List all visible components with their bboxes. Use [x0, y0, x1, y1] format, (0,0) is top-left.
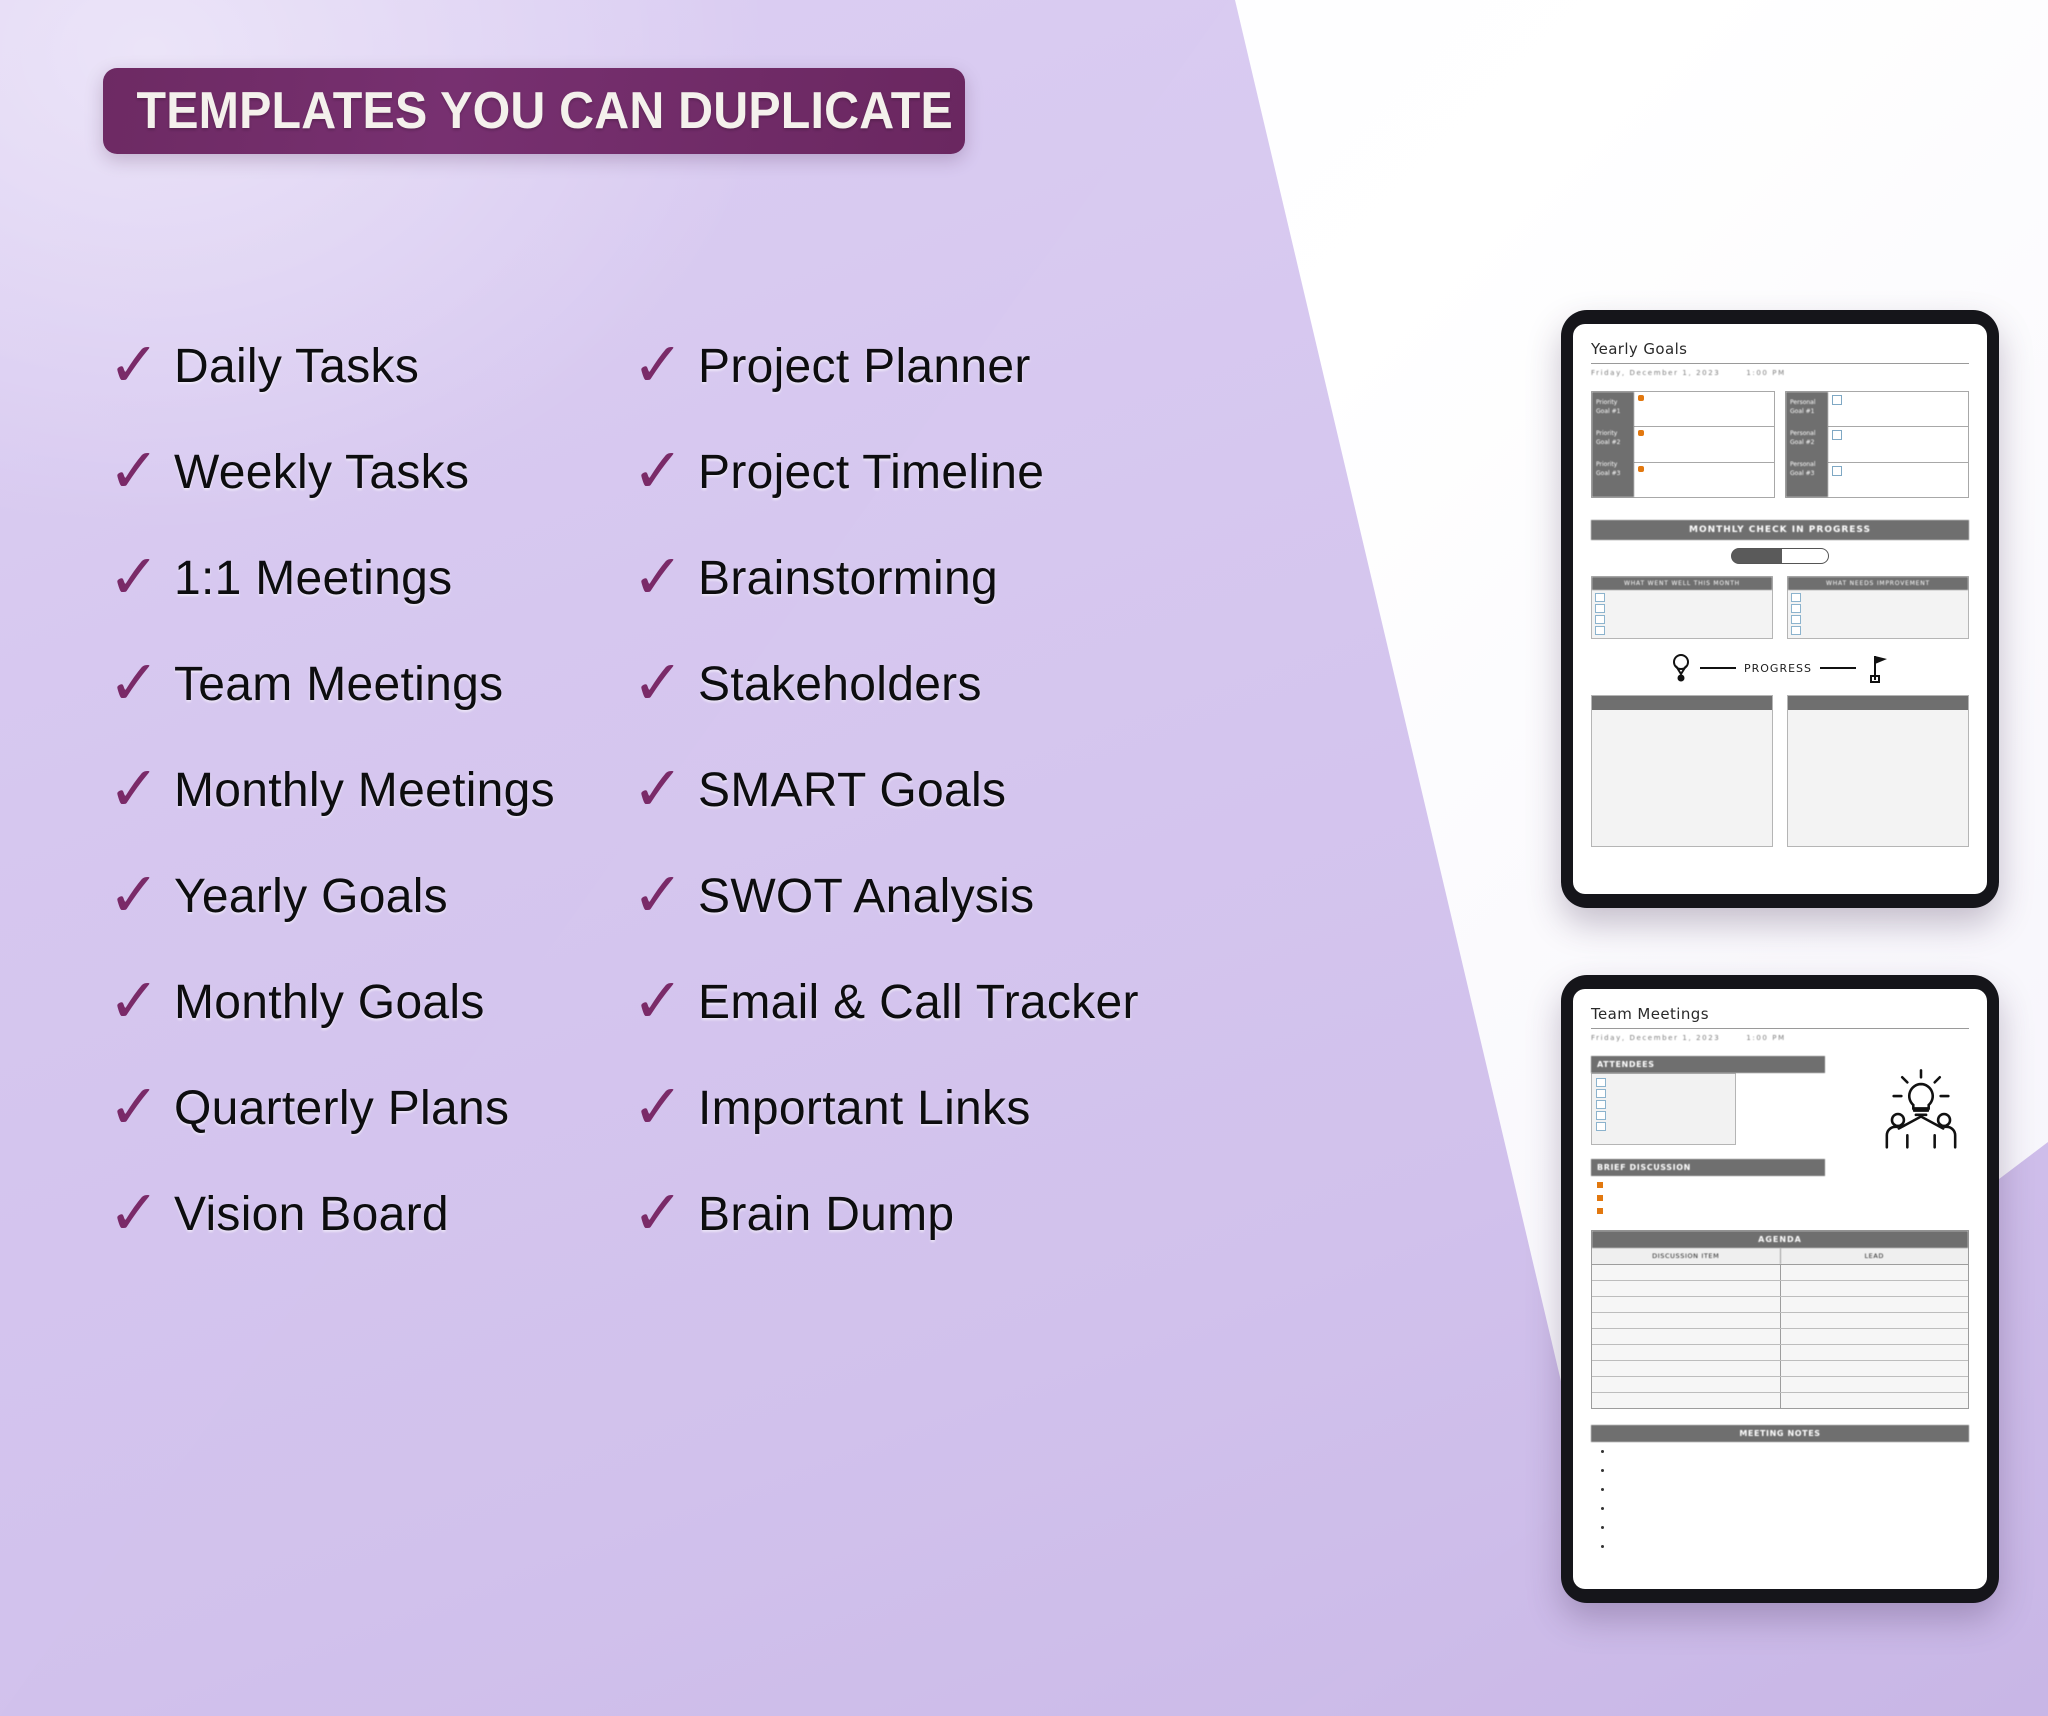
checklist-item: ✓1:1 Meetings — [108, 542, 628, 648]
checklist-column-left: ✓Daily Tasks✓Weekly Tasks✓1:1 Meetings✓T… — [108, 330, 628, 1284]
page-title: TEMPLATES YOU CAN DUPLICATE — [103, 81, 953, 141]
checklist-item-label: Project Timeline — [698, 449, 1044, 497]
checklist-item: ✓Monthly Goals — [108, 966, 628, 1072]
doc-subtitle: Friday, December 1, 2023 1:00 PM — [1591, 1034, 1969, 1042]
agenda-cell-item[interactable] — [1592, 1345, 1781, 1360]
checklist-item-label: Monthly Meetings — [174, 767, 555, 815]
agenda-cell-item[interactable] — [1592, 1297, 1781, 1312]
attendees-box[interactable] — [1591, 1073, 1736, 1145]
checkbox-icon[interactable] — [1832, 466, 1842, 476]
checklist-item: ✓Project Timeline — [632, 436, 1192, 542]
priority-goal-cells — [1634, 392, 1774, 497]
checkbox-stack-icon — [1595, 593, 1605, 635]
personal-goal-label: Personal Goal #2 — [1790, 429, 1824, 447]
improvement-header: WHAT NEEDS IMPROVEMENT — [1788, 577, 1968, 590]
agenda-row[interactable] — [1592, 1361, 1968, 1377]
meeting-notes-header: MEETING NOTES — [1591, 1425, 1969, 1442]
progress-indicator: PROGRESS — [1591, 653, 1969, 683]
checklist-item-label: SMART Goals — [698, 767, 1006, 815]
checklist-item: ✓Project Planner — [632, 330, 1192, 436]
checklist-item: ✓Team Meetings — [108, 648, 628, 754]
notes-bullet-icon — [1601, 1450, 1604, 1453]
personal-goal-label: Personal Goal #1 — [1790, 398, 1824, 416]
agenda-row[interactable] — [1592, 1377, 1968, 1393]
checklist-column-right: ✓Project Planner✓Project Timeline✓Brains… — [632, 330, 1192, 1284]
progress-toggle[interactable] — [1731, 548, 1829, 564]
checklist-item: ✓Quarterly Plans — [108, 1072, 628, 1178]
agenda-cell-lead[interactable] — [1781, 1297, 1969, 1312]
checklist-item-label: Project Planner — [698, 343, 1031, 391]
agenda-row[interactable] — [1592, 1329, 1968, 1345]
check-mark-icon: ✓ — [632, 1182, 698, 1244]
went-well-body[interactable] — [1592, 590, 1772, 638]
check-mark-icon: ✓ — [108, 652, 174, 714]
notes-bullet-icon — [1601, 1526, 1604, 1529]
checklist-item: ✓Brain Dump — [632, 1178, 1192, 1284]
checklist-item: ✓Yearly Goals — [108, 860, 628, 966]
went-well-header: WHAT WENT WELL THIS MONTH — [1592, 577, 1772, 590]
agenda-cell-lead[interactable] — [1781, 1393, 1969, 1408]
check-mark-icon: ✓ — [108, 1182, 174, 1244]
agenda-row[interactable] — [1592, 1297, 1968, 1313]
notes-bullet-icon — [1601, 1507, 1604, 1510]
agenda-column-headers: DISCUSSION ITEM LEAD — [1592, 1248, 1968, 1265]
tablet-screen-team-meetings: Team Meetings Friday, December 1, 2023 1… — [1573, 989, 1987, 1589]
checkbox-icon[interactable] — [1832, 430, 1842, 440]
agenda-cell-item[interactable] — [1592, 1361, 1781, 1376]
checklist-item-label: Important Links — [698, 1085, 1031, 1133]
tablet-mockup-team-meetings: Team Meetings Friday, December 1, 2023 1… — [1561, 975, 1999, 1603]
doc-title: Yearly Goals — [1591, 340, 1969, 358]
goal-cell[interactable] — [1828, 392, 1968, 427]
check-mark-icon: ✓ — [108, 334, 174, 396]
agenda-cell-lead[interactable] — [1781, 1329, 1969, 1344]
next-steps-panels — [1591, 695, 1969, 847]
checklist-item-label: 1:1 Meetings — [174, 555, 452, 603]
priority-goal-label: Priority Goal #2 — [1596, 429, 1630, 447]
checklist-item: ✓Vision Board — [108, 1178, 628, 1284]
doc-subtitle-time: 1:00 PM — [1746, 1034, 1785, 1042]
goal-cell[interactable] — [1634, 392, 1774, 427]
checklist-item-label: Daily Tasks — [174, 343, 419, 391]
notes-bullet-icon — [1601, 1488, 1604, 1491]
went-well-panel: WHAT WENT WELL THIS MONTH — [1591, 576, 1773, 639]
checklist-item-label: Monthly Goals — [174, 979, 485, 1027]
checklist-item-label: Team Meetings — [174, 661, 503, 709]
agenda-cell-lead[interactable] — [1781, 1265, 1969, 1280]
checklist-item: ✓SMART Goals — [632, 754, 1192, 860]
additional-notes-header — [1788, 696, 1968, 710]
agenda-cell-lead[interactable] — [1781, 1313, 1969, 1328]
priority-goals-panel: Priority Goal #1 Priority Goal #2 Priori… — [1591, 391, 1775, 498]
check-mark-icon: ✓ — [108, 758, 174, 820]
checklist-item: ✓Important Links — [632, 1072, 1192, 1178]
improvement-panel: WHAT NEEDS IMPROVEMENT — [1787, 576, 1969, 639]
agenda-cell-item[interactable] — [1592, 1393, 1781, 1408]
checklist-item-label: Vision Board — [174, 1191, 449, 1239]
check-mark-icon: ✓ — [108, 440, 174, 502]
goal-cell[interactable] — [1828, 463, 1968, 497]
next-steps-header — [1592, 696, 1772, 710]
agenda-cell-item[interactable] — [1592, 1329, 1781, 1344]
agenda-column-header: LEAD — [1781, 1248, 1969, 1264]
checklist-item: ✓SWOT Analysis — [632, 860, 1192, 966]
agenda-title: AGENDA — [1592, 1231, 1968, 1248]
doc-subtitle-time: 1:00 PM — [1746, 369, 1785, 377]
checklist-item: ✓Daily Tasks — [108, 330, 628, 436]
agenda-cell-item[interactable] — [1592, 1313, 1781, 1328]
check-mark-icon: ✓ — [108, 1076, 174, 1138]
attendees-header: ATTENDEES — [1591, 1056, 1825, 1073]
reflection-panels: WHAT WENT WELL THIS MONTH WHAT NEEDS IMP… — [1591, 576, 1969, 639]
goal-cell[interactable] — [1634, 427, 1774, 462]
bullet-dot-icon — [1638, 466, 1644, 472]
bullet-dot-icon — [1638, 430, 1644, 436]
check-mark-icon: ✓ — [632, 970, 698, 1032]
header-banner: TEMPLATES YOU CAN DUPLICATE — [103, 68, 965, 154]
agenda-row[interactable] — [1592, 1281, 1968, 1297]
doc-rule — [1591, 1028, 1969, 1029]
checklist-item: ✓Brainstorming — [632, 542, 1192, 648]
agenda-cell-item[interactable] — [1592, 1377, 1781, 1392]
checklist-item-label: Email & Call Tracker — [698, 979, 1139, 1027]
next-steps-panel[interactable] — [1591, 695, 1773, 847]
checklist-item-label: Quarterly Plans — [174, 1085, 509, 1133]
priority-goal-label: Priority Goal #1 — [1596, 398, 1630, 416]
personal-goal-labels: Personal Goal #1 Personal Goal #2 Person… — [1786, 392, 1828, 497]
checklist-item-label: SWOT Analysis — [698, 873, 1034, 921]
doc-title: Team Meetings — [1591, 1005, 1969, 1023]
checklist-item: ✓Monthly Meetings — [108, 754, 628, 860]
personal-goals-panel: Personal Goal #1 Personal Goal #2 Person… — [1785, 391, 1969, 498]
priority-goal-label: Priority Goal #3 — [1596, 460, 1630, 478]
checklist-item-label: Yearly Goals — [174, 873, 448, 921]
doc-rule — [1591, 363, 1969, 364]
doc-subtitle-date: Friday, December 1, 2023 — [1591, 369, 1720, 377]
checklist-item-label: Brainstorming — [698, 555, 998, 603]
agenda-cell-item[interactable] — [1592, 1265, 1781, 1280]
agenda-column-header: DISCUSSION ITEM — [1592, 1248, 1781, 1264]
agenda-rows — [1592, 1265, 1968, 1408]
agenda-row[interactable] — [1592, 1345, 1968, 1361]
checkbox-stack-icon — [1596, 1078, 1606, 1140]
check-mark-icon: ✓ — [108, 970, 174, 1032]
notes-bullet-icon — [1601, 1469, 1604, 1472]
agenda-cell-lead[interactable] — [1781, 1281, 1969, 1296]
checklist-item: ✓Email & Call Tracker — [632, 966, 1192, 1072]
checkbox-stack-icon — [1791, 593, 1801, 635]
priority-goal-labels: Priority Goal #1 Priority Goal #2 Priori… — [1592, 392, 1634, 497]
bullet-dot-icon — [1638, 395, 1644, 401]
checklist-item-label: Stakeholders — [698, 661, 982, 709]
personal-goal-cells — [1828, 392, 1968, 497]
additional-notes-panel[interactable] — [1787, 695, 1969, 847]
flag-goal-icon — [1864, 653, 1890, 683]
agenda-row[interactable] — [1592, 1265, 1968, 1281]
checklist-item: ✓Weekly Tasks — [108, 436, 628, 542]
agenda-cell-lead[interactable] — [1781, 1361, 1969, 1376]
notes-bullet-icon — [1601, 1545, 1604, 1548]
discussion-header: BRIEF DISCUSSION — [1591, 1159, 1825, 1176]
teamwork-lightbulb-icon — [1877, 1067, 1965, 1149]
agenda-cell-lead[interactable] — [1781, 1345, 1969, 1360]
location-pin-icon — [1670, 653, 1692, 683]
checklist-item-label: Weekly Tasks — [174, 449, 469, 497]
check-mark-icon: ✓ — [632, 758, 698, 820]
goal-cell[interactable] — [1634, 463, 1774, 497]
templates-checklist: ✓Daily Tasks✓Weekly Tasks✓1:1 Meetings✓T… — [0, 0, 1200, 1716]
monthly-checkin-bar: MONTHLY CHECK IN PROGRESS — [1591, 520, 1969, 540]
progress-label: PROGRESS — [1744, 662, 1812, 675]
agenda-row[interactable] — [1592, 1393, 1968, 1408]
check-mark-icon: ✓ — [632, 1076, 698, 1138]
doc-subtitle: Friday, December 1, 2023 1:00 PM — [1591, 369, 1969, 377]
checkbox-icon[interactable] — [1832, 395, 1842, 405]
check-mark-icon: ✓ — [632, 334, 698, 396]
agenda-row[interactable] — [1592, 1313, 1968, 1329]
check-mark-icon: ✓ — [632, 652, 698, 714]
improvement-body[interactable] — [1788, 590, 1968, 638]
tablet-mockup-yearly-goals: Yearly Goals Friday, December 1, 2023 1:… — [1561, 310, 1999, 908]
check-mark-icon: ✓ — [632, 864, 698, 926]
agenda-cell-item[interactable] — [1592, 1281, 1781, 1296]
agenda-cell-lead[interactable] — [1781, 1377, 1969, 1392]
agenda-table: AGENDA DISCUSSION ITEM LEAD — [1591, 1230, 1969, 1409]
tablet-screen-yearly-goals: Yearly Goals Friday, December 1, 2023 1:… — [1573, 324, 1987, 894]
check-mark-icon: ✓ — [632, 440, 698, 502]
checklist-item-label: Brain Dump — [698, 1191, 954, 1239]
check-mark-icon: ✓ — [108, 546, 174, 608]
goal-cell[interactable] — [1828, 427, 1968, 462]
checklist-item: ✓Stakeholders — [632, 648, 1192, 754]
check-mark-icon: ✓ — [108, 864, 174, 926]
doc-subtitle-date: Friday, December 1, 2023 — [1591, 1034, 1720, 1042]
check-mark-icon: ✓ — [632, 546, 698, 608]
meeting-notes-bullets — [1601, 1450, 1969, 1548]
goal-panels: Priority Goal #1 Priority Goal #2 Priori… — [1591, 391, 1969, 498]
discussion-bullets — [1597, 1182, 1825, 1214]
personal-goal-label: Personal Goal #3 — [1790, 460, 1824, 478]
